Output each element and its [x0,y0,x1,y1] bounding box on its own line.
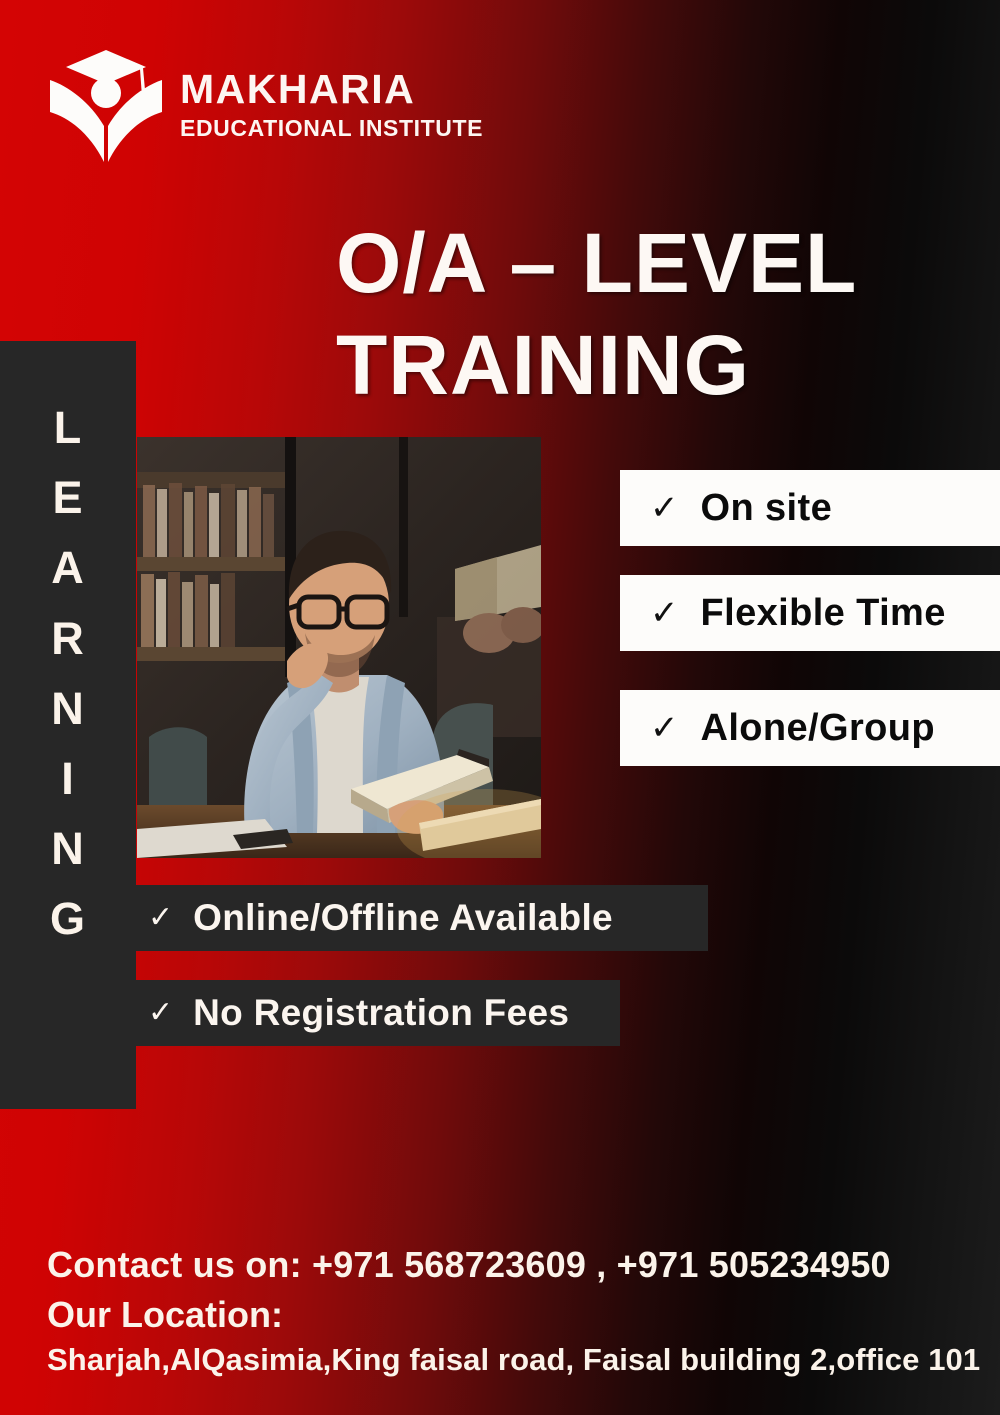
student-photo [137,437,541,858]
check-icon: ✓ [650,596,679,630]
feature-label: Alone/Group [701,707,936,750]
feature-on-site[interactable]: ✓ On site [620,470,1000,546]
feature-no-registration-fees[interactable]: ✓ No Registration Fees [126,980,620,1046]
brand-subtitle: EDUCATIONAL INSTITUTE [180,117,483,140]
brand-wordmark: MAKHARIA EDUCATIONAL INSTITUTE [180,69,483,140]
brand-name: MAKHARIA [180,69,483,110]
sidebar-letter: G [50,884,86,954]
sidebar-letter: E [52,463,83,533]
feature-label: No Registration Fees [193,992,569,1034]
learning-vertical-word: L E A R N I N G [0,393,136,955]
location-label: Our Location: [47,1294,283,1336]
feature-alone-group[interactable]: ✓ Alone/Group [620,690,1000,766]
feature-label: On site [701,487,833,530]
contact-phones: Contact us on: +971 568723609 , +971 505… [47,1244,891,1286]
page-title: O/A – LEVEL TRAINING [336,212,976,417]
check-icon: ✓ [650,491,679,525]
graduation-cap-book-icon [46,40,166,168]
sidebar-letter: N [51,674,85,744]
feature-online-offline[interactable]: ✓ Online/Offline Available [126,885,708,951]
poster-root: MAKHARIA EDUCATIONAL INSTITUTE O/A – LEV… [0,0,1000,1415]
sidebar-letter: I [61,744,75,814]
location-address: Sharjah,AlQasimia,King faisal road, Fais… [47,1342,980,1378]
headline-line-1: O/A – LEVEL [336,216,857,310]
check-icon: ✓ [148,903,173,933]
check-icon: ✓ [650,711,679,745]
learning-sidebar: L E A R N I N G [0,341,136,1109]
feature-label: Flexible Time [701,592,946,635]
sidebar-letter: L [54,393,83,463]
sidebar-letter: R [51,604,85,674]
feature-flexible-time[interactable]: ✓ Flexible Time [620,575,1000,651]
sidebar-letter: A [51,533,85,603]
sidebar-letter: N [51,814,85,884]
feature-label: Online/Offline Available [193,897,613,939]
check-icon: ✓ [148,998,173,1028]
brand-logo: MAKHARIA EDUCATIONAL INSTITUTE [46,40,483,168]
headline-line-2: TRAINING [336,314,976,416]
